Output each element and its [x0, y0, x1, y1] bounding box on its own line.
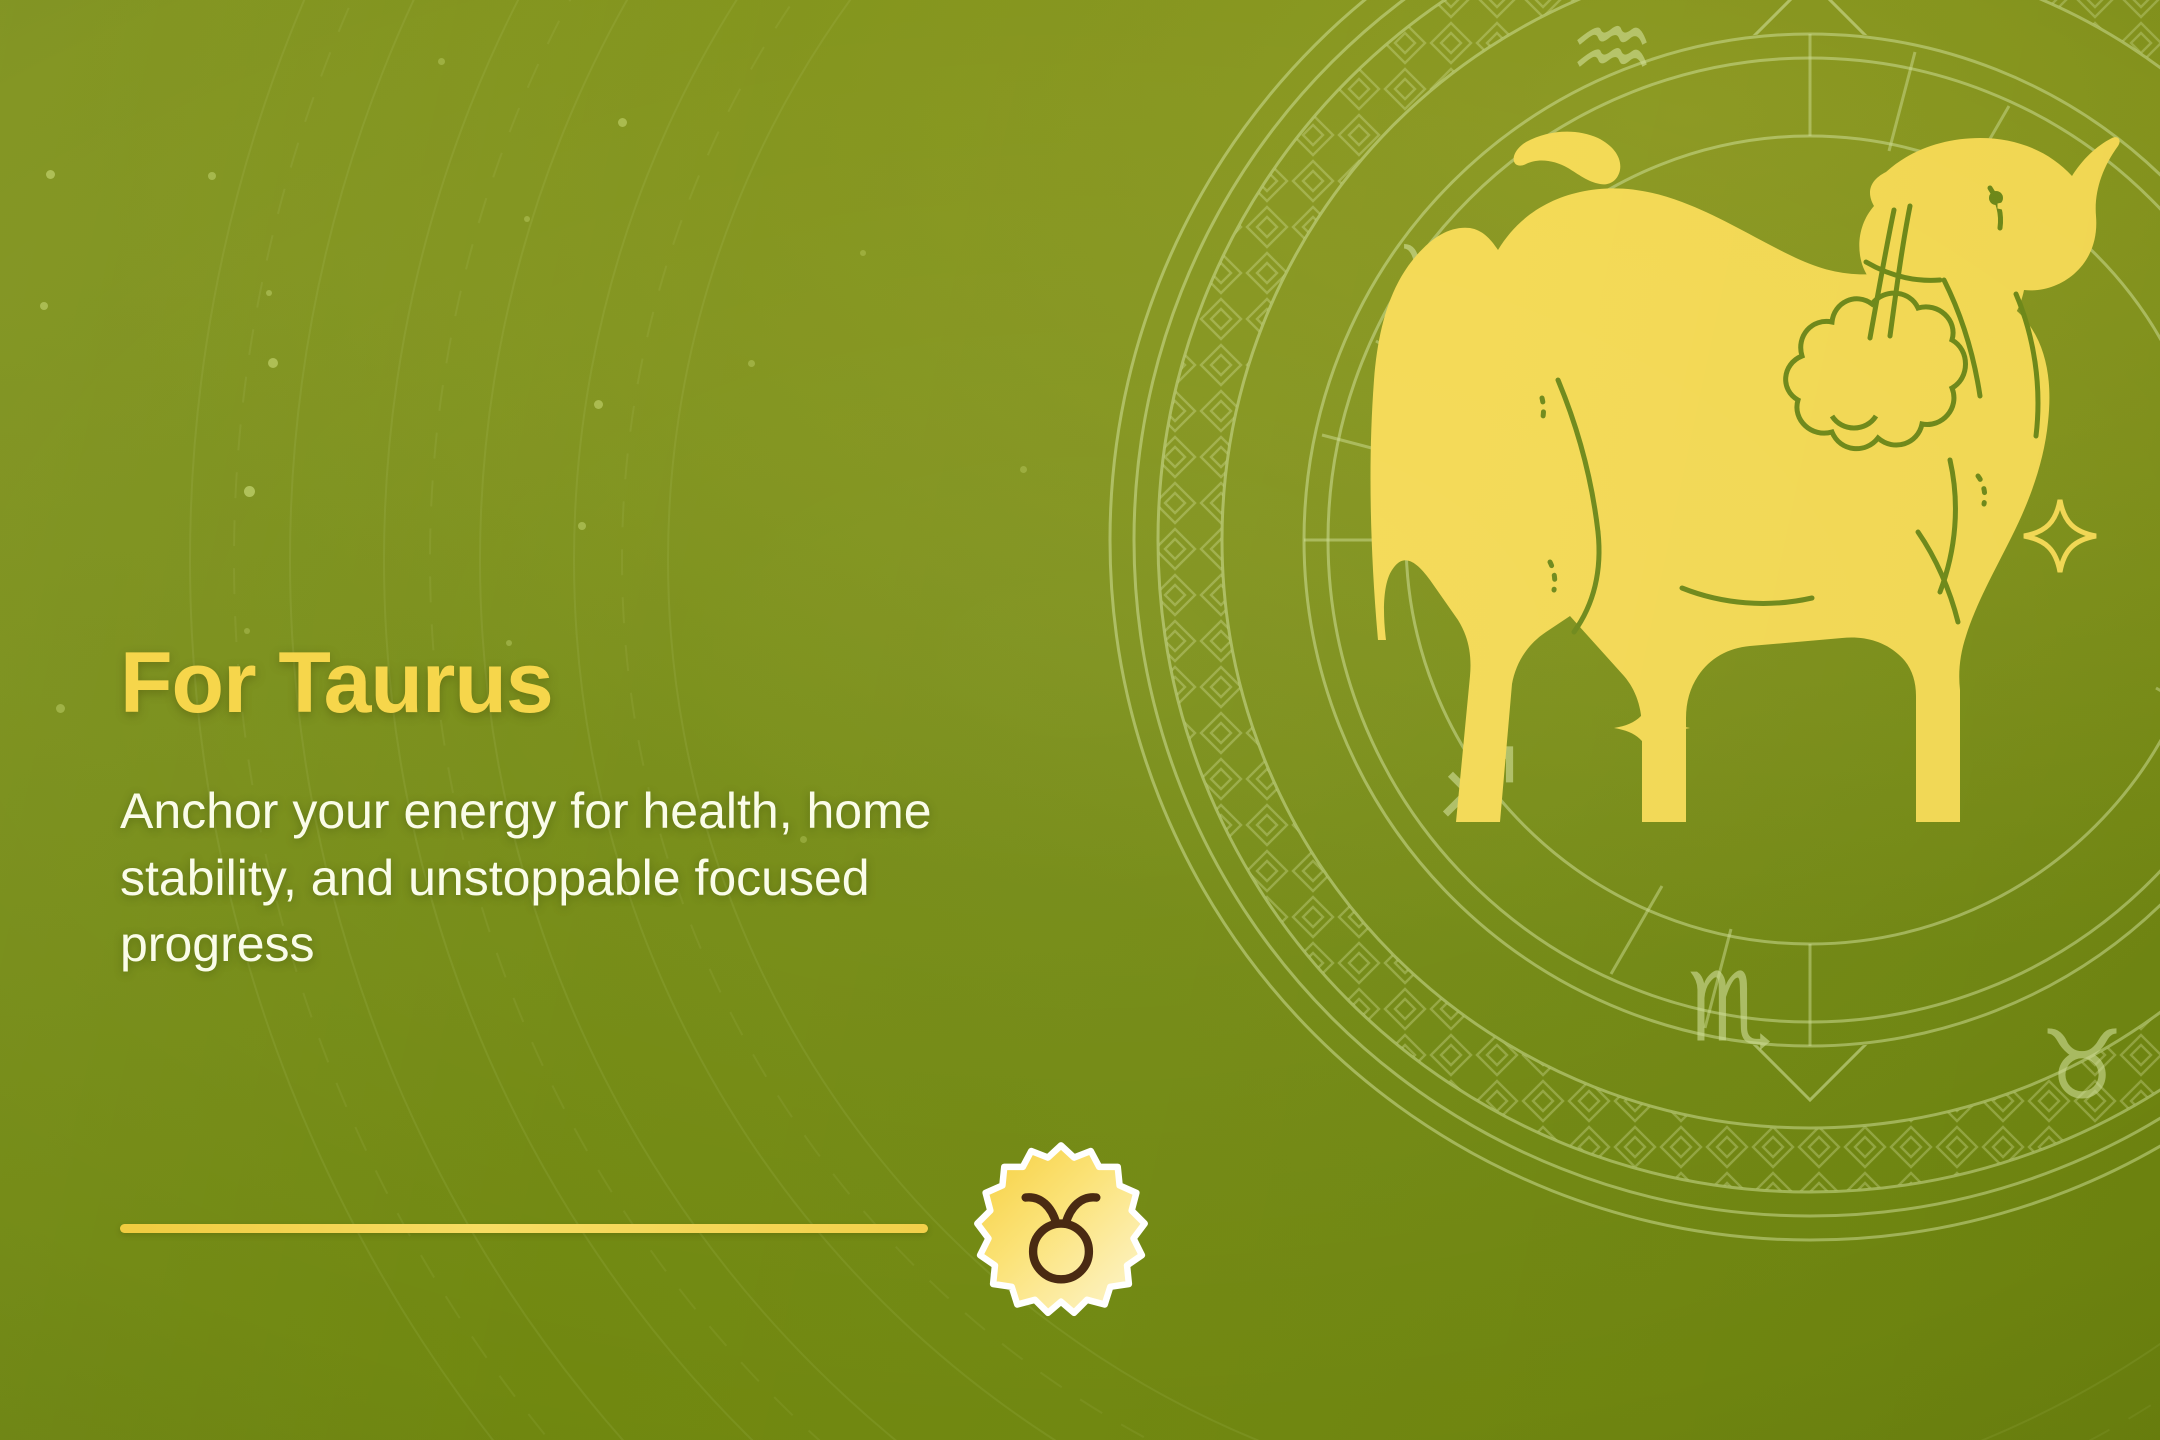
sparkle-mid-right-icon: [2024, 500, 2096, 572]
text-block: For Taurus Anchor your energy for health…: [120, 640, 1140, 978]
zodiac-wheel: ♒ ♑ ♐ ♏ ♉ ♏: [1060, 0, 2160, 1290]
star-dot: [244, 628, 250, 634]
star-dot: [266, 290, 272, 296]
star-dot: [438, 58, 445, 65]
star-dot: [594, 400, 603, 409]
sparkle-bottom-center-icon: [1614, 690, 1690, 766]
wheel-glyph-capricorn: ♑: [1395, 223, 1481, 335]
star-dot: [524, 216, 530, 222]
star-dot: [578, 522, 586, 530]
page-subtitle: Anchor your energy for health, home stab…: [120, 778, 960, 978]
star-dot: [46, 170, 55, 179]
sparkle-top-right-icon: [1998, 172, 2066, 240]
star-dot: [860, 250, 866, 256]
star-dot: [748, 360, 755, 367]
star-dot: [1020, 466, 1027, 473]
wheel-glyph-scorpio: ♏: [1687, 951, 1773, 1063]
star-dot: [56, 704, 65, 713]
seal-shape: [977, 1145, 1144, 1312]
taurus-bull-illustration: [1330, 80, 2120, 840]
star-dot: [244, 486, 255, 497]
wheel-glyph-taurus: ♉: [2039, 1009, 2125, 1121]
star-dot: [208, 172, 216, 180]
taurus-seal-badge[interactable]: Taurus: [968, 1138, 1154, 1324]
wheel-glyph-aquarius: ♒: [1569, 0, 1655, 104]
wheel-glyph-sagittarius: ♐: [1435, 727, 1521, 839]
star-dot: [618, 118, 627, 127]
taurus-horoscope-card: ♒ ♑ ♐ ♏ ♉ ♏: [0, 0, 2160, 1440]
page-title: For Taurus: [120, 640, 1140, 726]
horizontal-divider: [120, 1224, 928, 1233]
star-dot: [40, 302, 48, 310]
star-dot: [268, 358, 278, 368]
